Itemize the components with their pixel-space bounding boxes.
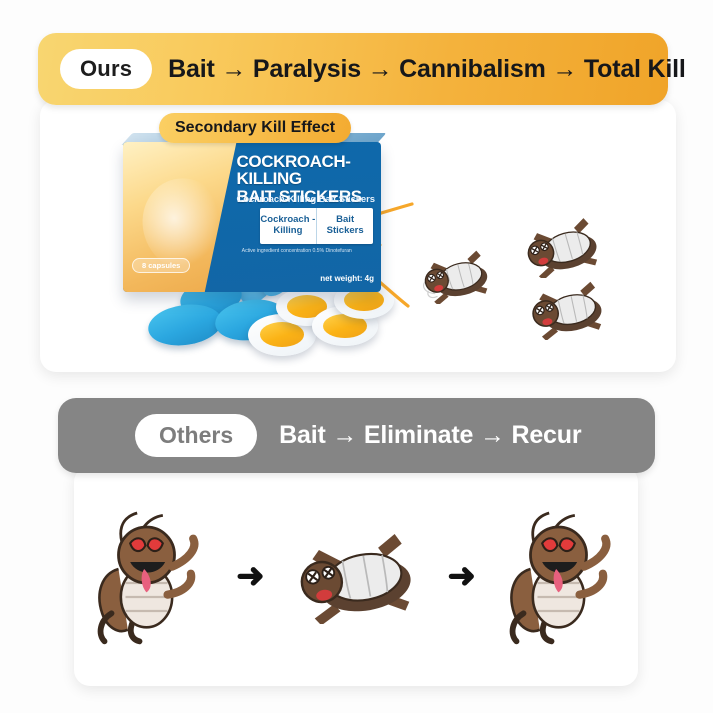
others-header-banner: Others Bait → Eliminate → Recur: [58, 398, 655, 473]
product-title-line1: COCKROACH-KILLING: [237, 153, 376, 188]
dead-roach-icon: [286, 528, 426, 624]
product-feature-tiles: Cockroach -Killing Bait Stickers: [260, 208, 374, 244]
ours-content-card: Secondary Kill Effect COCKROACH-KILLING …: [40, 100, 676, 372]
product-box: COCKROACH-KILLING BAIT STICKERS Cockroac…: [123, 142, 381, 292]
product-tile-right: Bait Stickers: [316, 208, 373, 244]
product-fine-print: Active ingredient concentration 0.5% Din…: [242, 248, 379, 254]
ours-header-banner: Ours Bait → Paralysis → Cannibalism → To…: [38, 33, 668, 105]
secondary-kill-effect-badge: Secondary Kill Effect: [159, 113, 351, 143]
ours-badge: Ours: [60, 49, 152, 89]
arrow-right-icon: ➜: [447, 559, 476, 593]
product-tile-left: Cockroach -Killing: [260, 208, 316, 244]
arrow-right-icon: ➜: [236, 559, 265, 593]
product-box-front: COCKROACH-KILLING BAIT STICKERS Cockroac…: [123, 142, 381, 292]
running-roach-icon: [85, 506, 215, 646]
others-badge: Others: [135, 414, 257, 457]
ours-flow-text: Bait → Paralysis → Cannibalism → Total K…: [168, 55, 685, 84]
others-flow-text: Bait → Eliminate → Recur: [279, 421, 581, 450]
product-net-weight: net weight: 4g: [320, 274, 374, 283]
running-roach-icon: [497, 506, 627, 646]
product-capsule-count: 8 capsules: [132, 258, 190, 273]
comparison-infographic: Ours Bait → Paralysis → Cannibalism → To…: [0, 0, 713, 713]
others-content-card: ➜ ➜: [74, 466, 638, 686]
product-subtitle: Cockroach-Killing Bait Stickers: [237, 194, 381, 205]
